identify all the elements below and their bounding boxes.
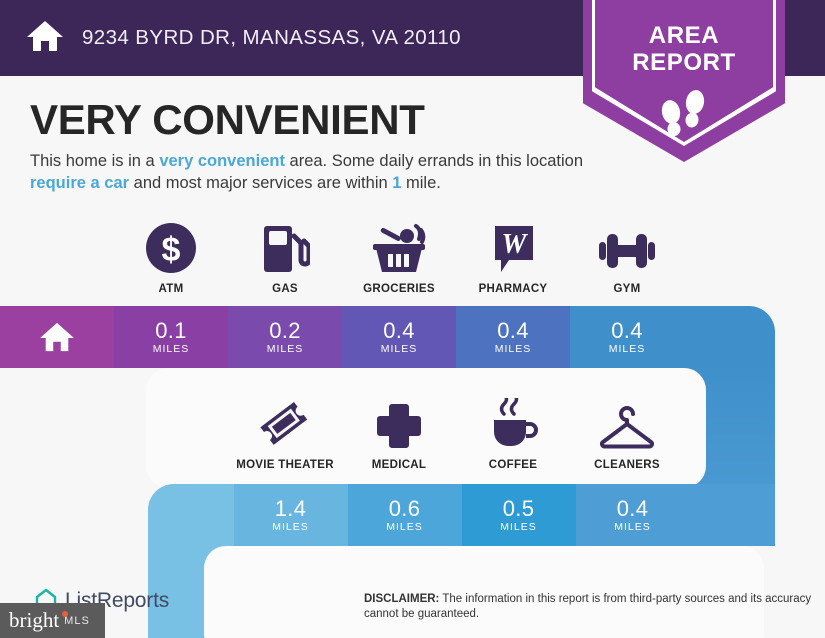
gas-pump-icon: [260, 222, 310, 274]
svg-text:$: $: [162, 231, 181, 269]
distance-value: 0.1: [155, 319, 186, 342]
footprints-icon: [655, 88, 713, 145]
movie-ticket-icon: [258, 398, 312, 450]
amenity-movie-theater: MOVIE THEATER: [228, 398, 342, 471]
distance-value: 1.4: [275, 497, 306, 520]
distance-unit: MILES: [267, 343, 304, 355]
amenity-label: COFFEE: [489, 459, 537, 471]
amenity-icon-row-2: MOVIE THEATER MEDICAL COFFEE: [228, 398, 684, 471]
amenity-pharmacy: W PHARMACY: [456, 222, 570, 295]
area-report-page: 9234 BYRD DR, MANASSAS, VA 20110 AREA RE…: [0, 0, 825, 638]
distance-segment: 0.4 MILES: [570, 306, 684, 368]
summary-part-2: area. Some daily errands in this locatio…: [285, 152, 583, 170]
distance-value: 0.4: [617, 497, 648, 520]
badge-title: AREA REPORT: [583, 22, 785, 76]
summary-part-1: This home is in a: [30, 152, 159, 170]
svg-text:W: W: [502, 229, 529, 260]
home-segment: [0, 306, 114, 368]
distance-bar-row-2: 1.4 MILES 0.6 MILES 0.5 MILES 0.4 MILES: [148, 484, 775, 546]
summary-part-4: mile.: [401, 174, 440, 192]
distance-segment: 0.1 MILES: [114, 306, 228, 368]
distance-segment: 0.5 MILES: [462, 484, 576, 546]
amenity-label: MEDICAL: [372, 459, 427, 471]
distance-value: 0.4: [497, 319, 528, 342]
distance-unit: MILES: [386, 521, 423, 533]
bar-tail: [684, 306, 775, 368]
distance-value: 0.5: [503, 497, 534, 520]
distance-value: 0.2: [269, 319, 300, 342]
distance-segment: 0.2 MILES: [228, 306, 342, 368]
amenity-atm: $ ATM: [114, 222, 228, 295]
bar-tail: [690, 484, 776, 546]
distance-segment: 0.4 MILES: [342, 306, 456, 368]
home-icon: [26, 19, 64, 58]
medical-cross-icon: [375, 398, 423, 450]
distance-unit: MILES: [381, 343, 418, 355]
bright-mls-badge[interactable]: bright MLS: [0, 603, 105, 638]
distance-segment: 1.4 MILES: [234, 484, 348, 546]
amenity-gym: GYM: [570, 222, 684, 295]
bright-mls-word: bright: [9, 610, 59, 631]
distance-segment: 0.6 MILES: [348, 484, 462, 546]
bar-head: [148, 484, 234, 546]
amenity-gas: GAS: [228, 222, 342, 295]
distance-segment: 0.4 MILES: [576, 484, 690, 546]
distance-unit: MILES: [609, 343, 646, 355]
bright-mls-suffix: MLS: [64, 615, 90, 627]
walgreens-w-icon: W: [489, 222, 537, 274]
disclaimer-label: DISCLAIMER:: [364, 593, 439, 605]
bright-mls-dot-icon: [62, 611, 68, 617]
summary-highlight-1: very convenient: [159, 152, 285, 170]
distance-bar-row-1: 0.1 MILES 0.2 MILES 0.4 MILES 0.4 MILES …: [0, 306, 775, 368]
amenity-label: CLEANERS: [594, 459, 660, 471]
amenity-label: GAS: [272, 283, 298, 295]
amenity-medical: MEDICAL: [342, 398, 456, 471]
distance-unit: MILES: [500, 521, 537, 533]
dumbbell-icon: [596, 222, 658, 274]
summary-part-3: and most major services are within: [129, 174, 392, 192]
summary-text: This home is in a very convenient area. …: [30, 150, 590, 194]
amenity-label: GYM: [613, 283, 640, 295]
distance-unit: MILES: [495, 343, 532, 355]
amenity-label: PHARMACY: [479, 283, 548, 295]
badge-line-1: AREA: [583, 22, 785, 49]
disclaimer: DISCLAIMER: The information in this repo…: [364, 592, 812, 622]
amenity-icon-row-1: $ ATM GAS: [114, 222, 684, 295]
badge-line-2: REPORT: [583, 49, 785, 76]
header-address: 9234 BYRD DR, MANASSAS, VA 20110: [82, 26, 461, 50]
distance-value: 0.4: [611, 319, 642, 342]
amenity-label: MOVIE THEATER: [236, 459, 334, 471]
grocery-basket-icon: [369, 222, 429, 274]
distance-value: 0.6: [389, 497, 420, 520]
distance-unit: MILES: [272, 521, 309, 533]
coffee-cup-icon: [487, 398, 539, 450]
clothes-hanger-icon: [597, 398, 657, 450]
page-title: VERY CONVENIENT: [30, 96, 425, 144]
summary-highlight-2: require a car: [30, 174, 129, 192]
distance-unit: MILES: [614, 521, 651, 533]
amenity-coffee: COFFEE: [456, 398, 570, 471]
distance-value: 0.4: [383, 319, 414, 342]
amenity-cleaners: CLEANERS: [570, 398, 684, 471]
amenity-groceries: GROCERIES: [342, 222, 456, 295]
amenity-label: ATM: [159, 283, 184, 295]
dollar-circle-icon: $: [145, 222, 197, 274]
distance-segment: 0.4 MILES: [456, 306, 570, 368]
amenity-label: GROCERIES: [363, 283, 435, 295]
distance-unit: MILES: [153, 343, 190, 355]
